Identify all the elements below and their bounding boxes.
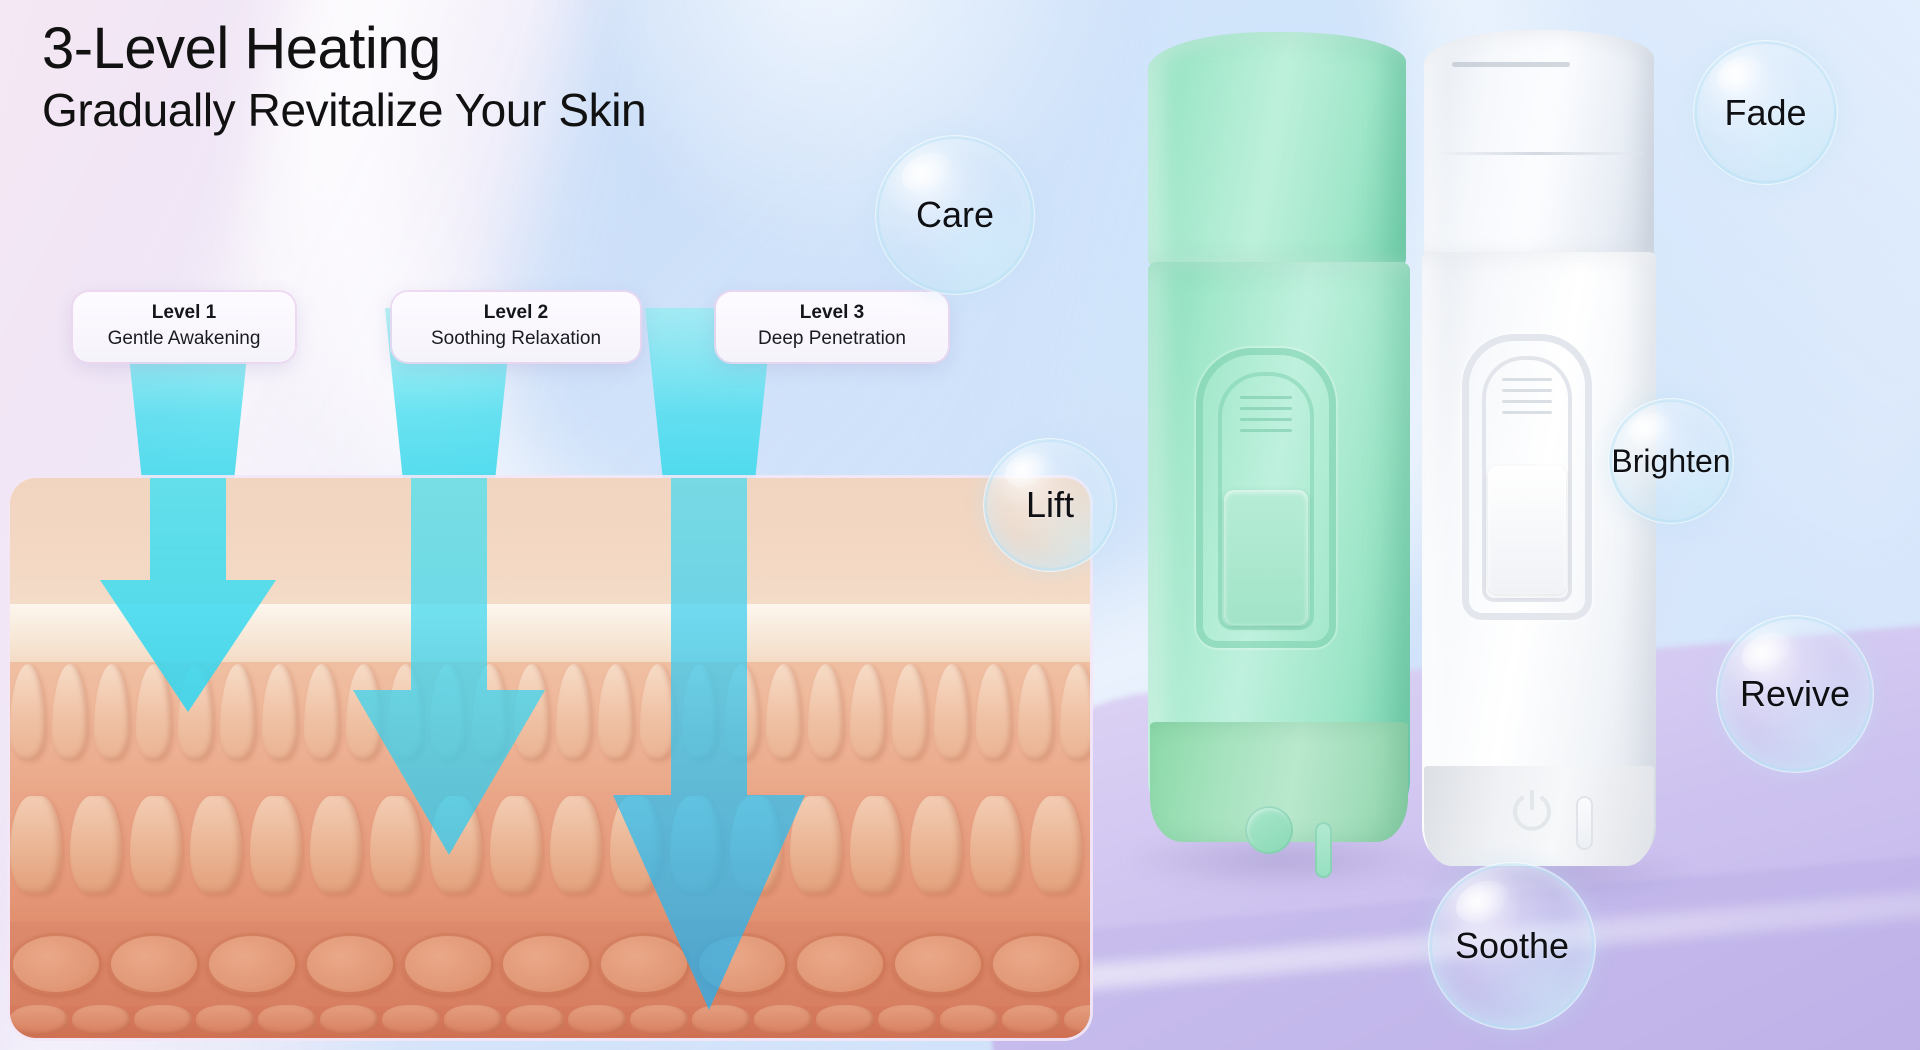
bubble-brighten: Brighten — [1608, 398, 1734, 524]
arrow-level-3 — [613, 478, 805, 1010]
bubble-fade: Fade — [1693, 40, 1838, 185]
power-icon[interactable] — [1508, 786, 1556, 834]
bubble-lift: Lift — [983, 438, 1117, 572]
bubble-soothe: Soothe — [1428, 862, 1596, 1030]
green-device-cap — [1148, 32, 1406, 267]
white-device-indicator — [1576, 796, 1593, 850]
white-device-slider[interactable] — [1488, 466, 1566, 594]
arrow-level-2 — [353, 478, 545, 855]
bubble-revive: Revive — [1716, 615, 1874, 773]
green-device-indicator — [1315, 822, 1332, 878]
white-device-grip-lines — [1502, 378, 1552, 428]
bubble-brighten-label: Brighten — [1611, 443, 1730, 480]
bubble-soothe-label: Soothe — [1455, 925, 1569, 967]
marketing-banner: 3-Level Heating Gradually Revitalize You… — [0, 0, 1920, 1050]
white-device-cap-slit — [1452, 62, 1570, 67]
arrow-level-1 — [100, 478, 276, 712]
green-device-grip-lines — [1240, 396, 1292, 448]
bubble-care-label: Care — [916, 194, 994, 236]
bubble-revive-label: Revive — [1740, 673, 1850, 715]
bubble-fade-label: Fade — [1724, 92, 1806, 134]
white-device-cap-seam — [1432, 152, 1644, 155]
bubble-lift-label: Lift — [1026, 484, 1074, 526]
green-device-slider[interactable] — [1224, 490, 1308, 625]
green-device-button[interactable] — [1245, 806, 1293, 854]
bubble-care: Care — [875, 135, 1035, 295]
